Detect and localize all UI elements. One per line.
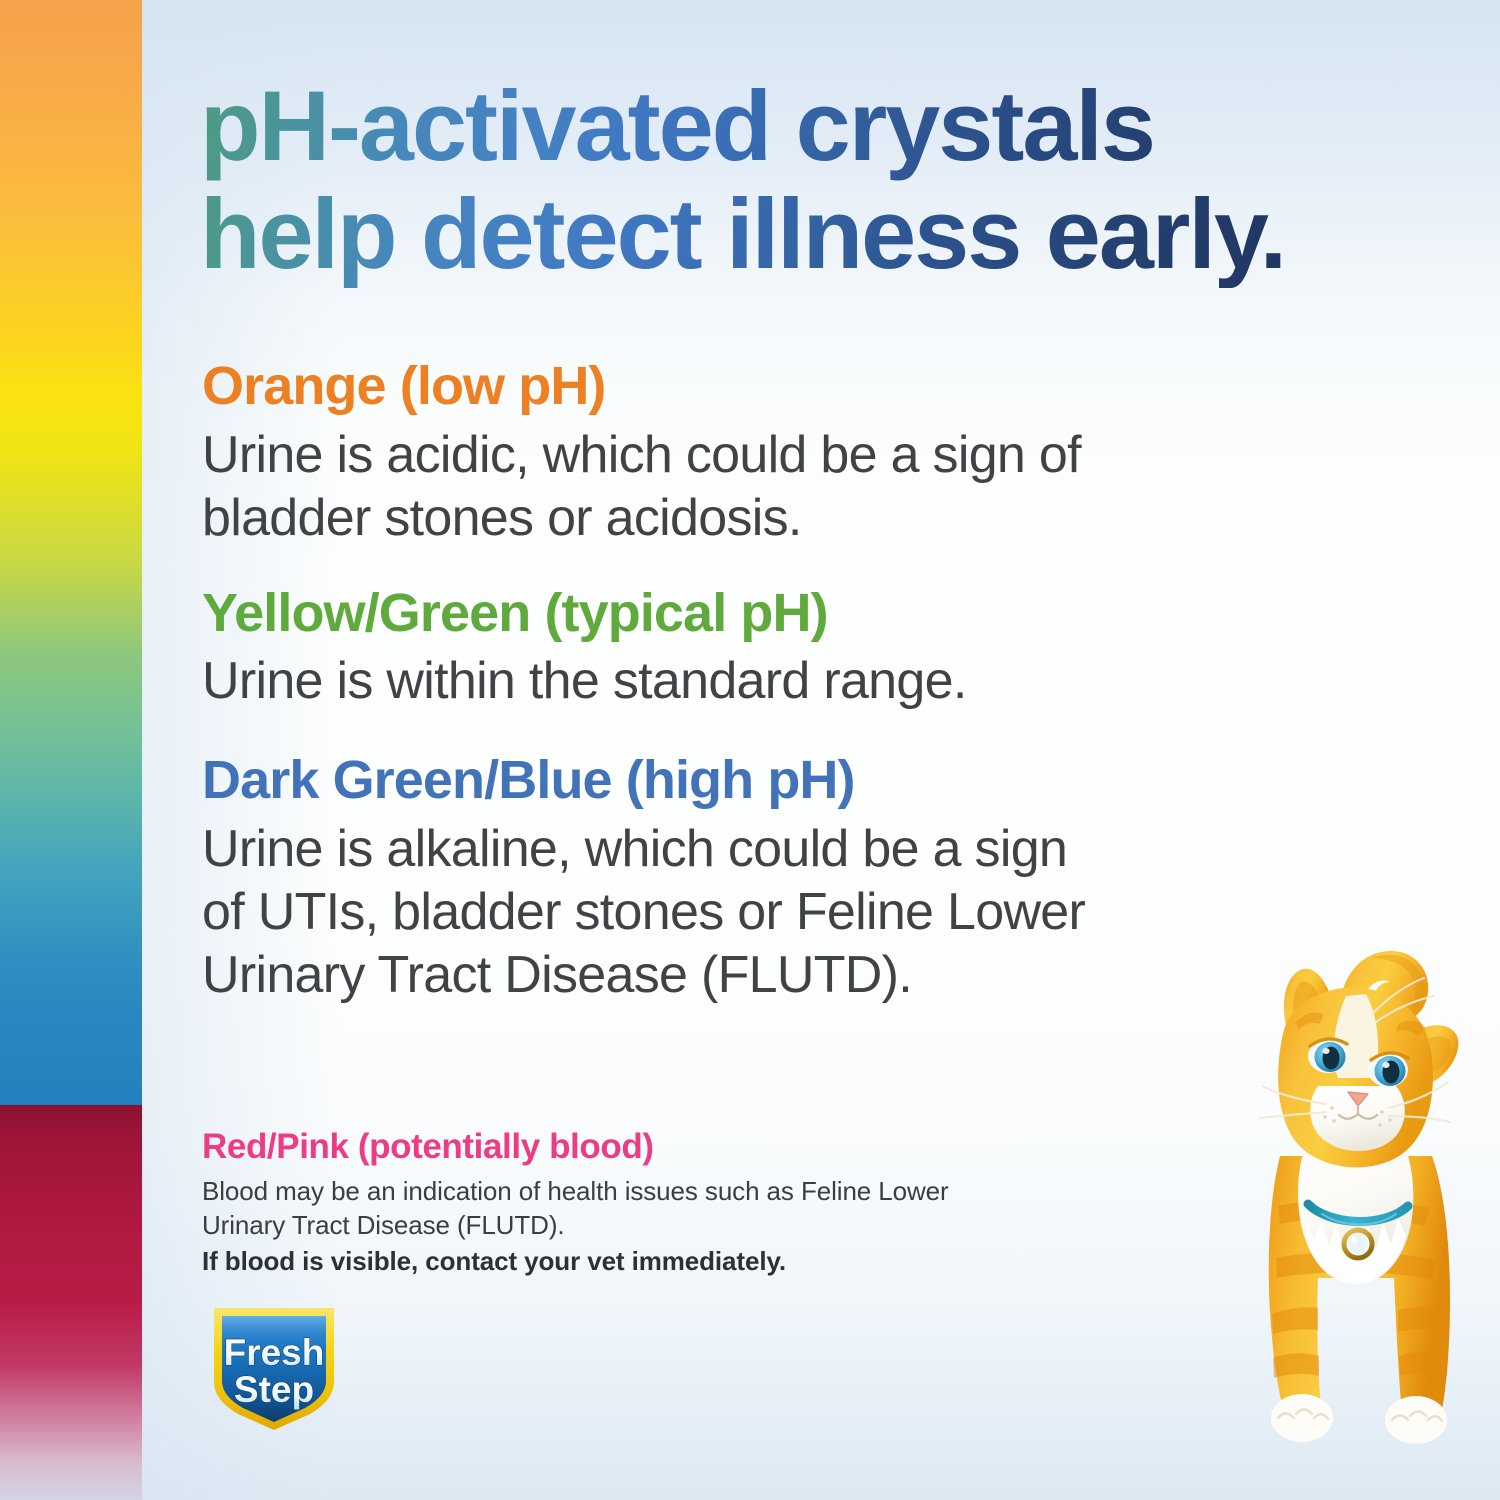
content-column: pH-activated crystals help detect illnes… (200, 0, 1470, 1500)
ph-section-yellow-green-body: Urine is within the standard range. (202, 650, 1292, 713)
ph-section-orange: Orange (low pH) Urine is acidic, which c… (202, 355, 1292, 550)
ph-section-dark-green-blue-heading: Dark Green/Blue (high pH) (202, 749, 1292, 813)
logo-text-line1: Fresh (224, 1332, 325, 1373)
ph-colour-scale-strip (0, 0, 142, 1500)
ph-section-red-pink: Red/Pink (potentially blood) Blood may b… (202, 1126, 1102, 1278)
ph-sections-list: Orange (low pH) Urine is acidic, which c… (202, 355, 1292, 1007)
ph-section-red-pink-body: Blood may be an indication of health iss… (202, 1175, 1102, 1243)
ph-section-red-pink-heading: Red/Pink (potentially blood) (202, 1126, 1102, 1168)
ph-scale-orange-to-blue (0, 0, 142, 1105)
page-title: pH-activated crystals help detect illnes… (200, 72, 1470, 288)
ph-section-yellow-green: Yellow/Green (typical pH) Urine is withi… (202, 582, 1292, 714)
ph-section-orange-body: Urine is acidic, which could be a sign o… (202, 424, 1292, 550)
ph-section-red-pink-warning: If blood is visible, contact your vet im… (202, 1245, 1102, 1279)
ph-scale-red-to-pink (0, 1105, 142, 1500)
ph-section-dark-green-blue-body: Urine is alkaline, which could be a sign… (202, 818, 1292, 1007)
ph-section-yellow-green-heading: Yellow/Green (typical pH) (202, 582, 1292, 646)
logo-text-line2: Step (234, 1369, 314, 1410)
ph-section-orange-heading: Orange (low pH) (202, 355, 1292, 419)
ph-section-dark-green-blue: Dark Green/Blue (high pH) Urine is alkal… (202, 749, 1292, 1006)
poster-root: pH-activated crystals help detect illnes… (0, 0, 1500, 1500)
fresh-step-logo: Fresh Step (200, 1296, 348, 1432)
